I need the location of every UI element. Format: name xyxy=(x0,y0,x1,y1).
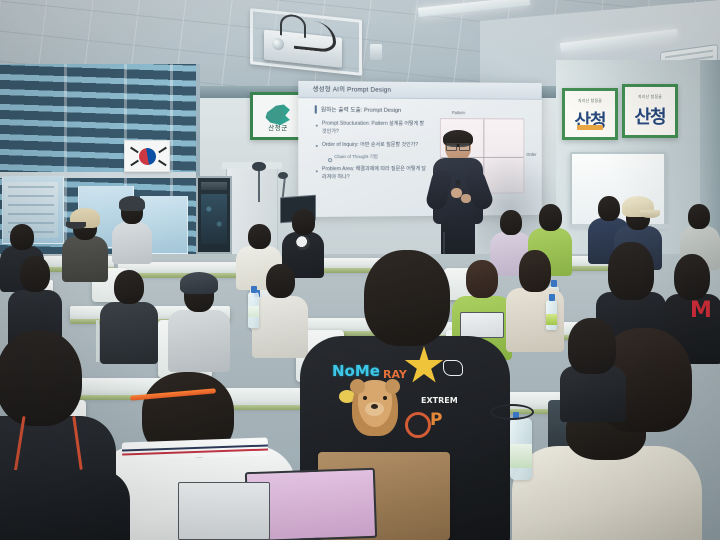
water-bottle xyxy=(248,292,259,328)
cap-icon xyxy=(119,196,145,211)
shirt-text-red: M xyxy=(690,298,711,323)
person-torso xyxy=(560,366,626,422)
slide-bullet: Problem Area: 해결과제에 따라 질문은 어떻게 달라져야 하나? xyxy=(316,166,427,182)
person-head xyxy=(539,204,562,231)
shirt-text-extrem: EXTREM xyxy=(421,396,458,405)
bear-nose xyxy=(371,404,378,409)
slide-title: 생성형 AI의 Prompt Design xyxy=(313,84,391,94)
laptop[interactable] xyxy=(178,482,270,540)
bottle-label xyxy=(248,306,259,317)
headphones-icon xyxy=(490,404,534,420)
slide-bullet-sub: Chain of Thought 기법 xyxy=(328,154,427,161)
bear-ear xyxy=(350,379,365,394)
cap-brim xyxy=(66,222,86,229)
brand-poster-1: 지리산 청정골 산청 xyxy=(562,88,618,140)
ceiling-smoke-detector-icon xyxy=(370,44,382,60)
shirt-text-p: P xyxy=(430,410,442,430)
person-head xyxy=(266,264,295,298)
slide-subtitle: 원하는 출력 도출: Prompt Design xyxy=(315,105,402,114)
teddy-bear-graphic-icon xyxy=(352,380,398,436)
bear-ear xyxy=(385,379,400,394)
eyeglasses-icon xyxy=(446,143,470,149)
equipment-rack xyxy=(196,176,232,254)
bear-eye xyxy=(363,396,367,400)
shirt-doodle-icon xyxy=(443,360,463,376)
person-torso xyxy=(168,310,230,372)
person-head xyxy=(364,250,450,346)
person-torso xyxy=(112,222,152,264)
green-drink-bottle xyxy=(546,300,557,330)
shirt-logo-icon xyxy=(296,236,310,250)
brand-poster-1-tagline: 지리산 청정골 xyxy=(565,99,615,104)
slide-bullet: Prompt Structuration: Pattern 설계를 어떻게 할 … xyxy=(316,121,427,137)
brand-poster-2: 지리산 청정골 산청 xyxy=(622,84,678,138)
person-head xyxy=(248,224,271,249)
flag-trigram xyxy=(158,147,166,153)
slide-bullet: Order of Inquiry: 어떤 순서로 질문할 것인가? xyxy=(316,141,427,149)
korean-flag-icon xyxy=(124,140,170,172)
presenter-hand xyxy=(461,194,471,203)
quadrant-y-axis-label: Pattern xyxy=(452,110,465,115)
rack-label xyxy=(201,182,227,190)
county-sign-label: 산청군 xyxy=(253,122,303,132)
person-dark-tee-mid-left xyxy=(8,250,62,342)
slide-bullet-list: Prompt Structuration: Pattern 설계를 어떻게 할 … xyxy=(316,121,427,188)
person-head xyxy=(292,209,315,235)
person-gray-hoodie xyxy=(168,268,230,364)
bottle-label xyxy=(546,314,557,325)
microphone-icon xyxy=(278,172,288,179)
flag-trigram xyxy=(158,160,166,166)
person-head xyxy=(568,318,616,374)
person-dark-hair-midright xyxy=(560,318,626,414)
flag-taegeuk xyxy=(135,144,159,168)
brand-poster-2-tagline: 지리산 청정골 xyxy=(625,95,675,100)
bottle-label xyxy=(510,444,532,468)
flag-trigram xyxy=(130,147,138,153)
person-head xyxy=(500,210,522,235)
person-head xyxy=(0,330,82,426)
cap-brim xyxy=(640,210,660,218)
microphone-stand xyxy=(258,170,260,202)
water-bottle xyxy=(510,418,532,480)
person-bottom-left xyxy=(0,452,130,540)
cap-icon xyxy=(180,272,218,294)
microphone-icon xyxy=(252,162,266,171)
lecture-room-photo: 산청군 지리산 청정골 산청 지리산 청정골 산청 생성형 AI의 Prompt… xyxy=(0,0,720,540)
ceiling-projector xyxy=(250,8,362,76)
brand-poster-accent-bar xyxy=(577,125,603,130)
person-long-hair-mid xyxy=(506,244,564,346)
flag-trigram xyxy=(130,160,138,166)
brand-poster-2-title: 산청 xyxy=(625,103,675,129)
person-torso xyxy=(0,470,130,540)
person-torso xyxy=(512,446,702,540)
bear-eye xyxy=(383,396,387,400)
person-dark-cap-back xyxy=(112,196,152,258)
person-head xyxy=(519,250,551,292)
person-head xyxy=(608,242,654,300)
person-head xyxy=(114,270,144,304)
person-head xyxy=(20,256,50,292)
shirt-circle-icon xyxy=(405,412,431,438)
person-head xyxy=(688,204,710,229)
person-head xyxy=(10,224,34,250)
shirt-text-nome: NoMe xyxy=(332,362,380,380)
person-head xyxy=(674,254,710,300)
